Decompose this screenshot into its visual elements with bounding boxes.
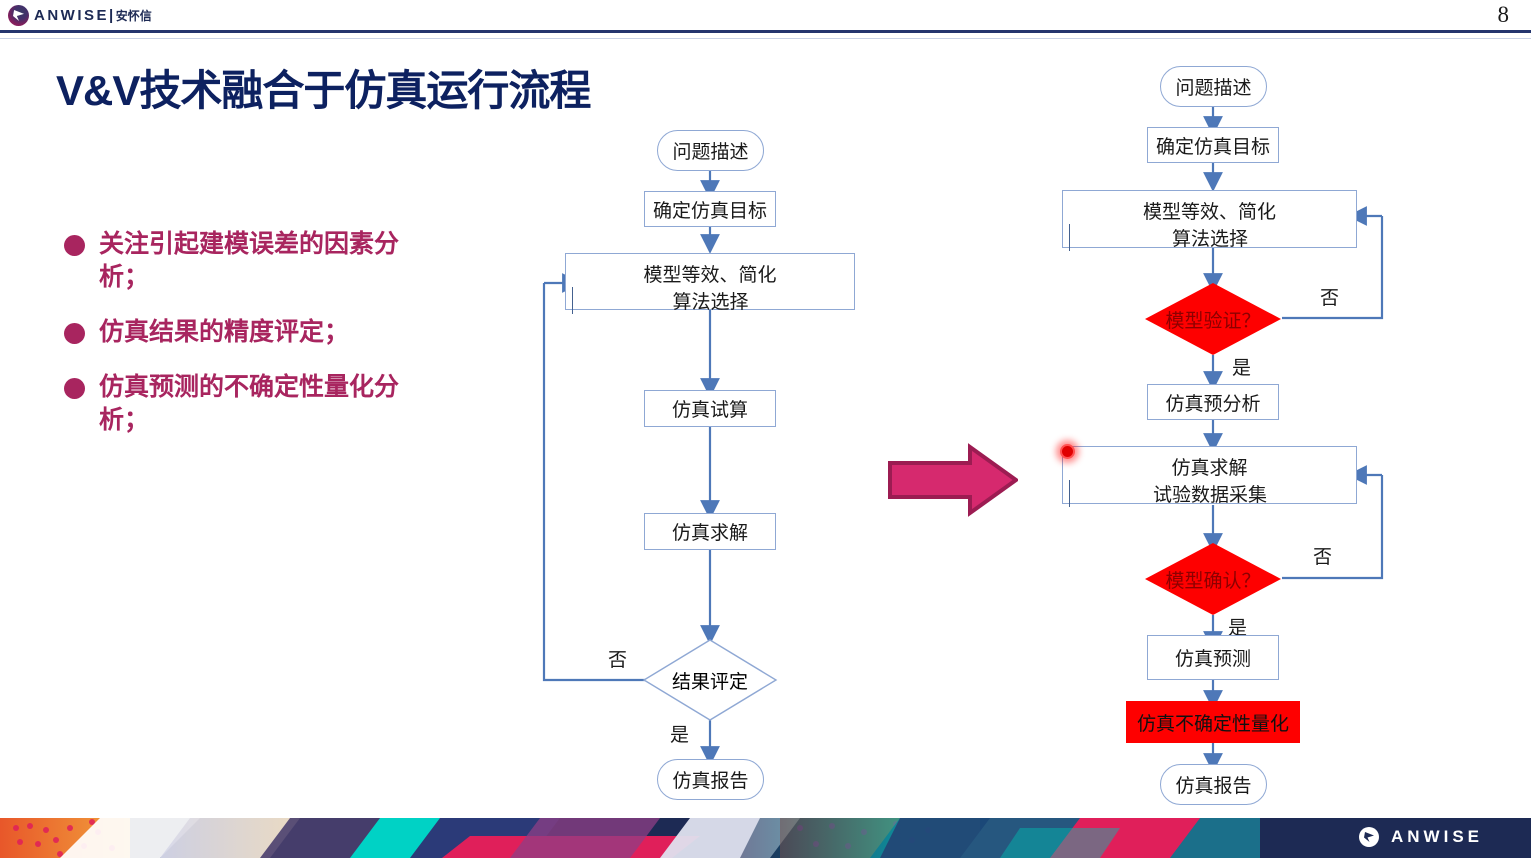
node-model-group[interactable]: 模型等效、简化 算法选择 <box>1062 190 1357 248</box>
brand-name: ANWISE|安怀信 <box>34 7 152 24</box>
bullet-text: 仿真结果的精度评定； <box>99 316 444 349</box>
node-uncertainty-quantification[interactable]: 仿真不确定性量化 <box>1126 701 1300 743</box>
cell-algorithm-select[interactable]: 算法选择 <box>1069 224 1350 251</box>
left-flowchart: 问题描述 确定仿真目标 模型等效、简化 算法选择 仿真试算 仿真求解 结果评定 … <box>520 120 880 810</box>
footer-decoration <box>0 818 1531 858</box>
node-goal[interactable]: 确定仿真目标 <box>644 191 776 227</box>
node-start[interactable]: 问题描述 <box>1160 66 1267 107</box>
node-trial-run[interactable]: 仿真试算 <box>644 390 776 427</box>
node-validate-decision-label: 模型确认？ <box>1145 543 1281 615</box>
brand-name-cn: 安怀信 <box>116 9 152 23</box>
slide-footer: ANWISE <box>0 818 1531 858</box>
anwise-logo-icon <box>8 5 29 26</box>
cell-model-equivalence[interactable]: 模型等效、简化 <box>1069 197 1350 224</box>
list-item: 关注引起建模误差的因素分析； <box>64 228 464 294</box>
node-model-group-inner: 模型等效、简化 算法选择 <box>1069 197 1350 241</box>
node-solve-group-inner: 仿真求解 试验数据采集 <box>1069 453 1350 497</box>
footer-brand-name: ANWISE <box>1391 827 1483 847</box>
transition-arrow-icon <box>888 443 1018 517</box>
slide-header: ANWISE|安怀信 8 <box>0 0 1531 31</box>
bullet-dot-icon <box>64 378 85 399</box>
right-flowchart: 问题描述 确定仿真目标 模型等效、简化 算法选择 模型验证？ 否 是 仿真预分析… <box>1020 55 1420 815</box>
node-validate-decision[interactable]: 模型确认？ <box>1145 543 1281 615</box>
cell-simulation-solve[interactable]: 仿真求解 <box>1069 453 1350 480</box>
edge-label-no-2: 否 <box>1313 542 1332 569</box>
node-start[interactable]: 问题描述 <box>657 130 764 171</box>
node-solve[interactable]: 仿真求解 <box>644 513 776 550</box>
edge-label-yes: 是 <box>670 720 689 747</box>
node-model-group[interactable]: 模型等效、简化 算法选择 <box>565 253 855 310</box>
cell-model-equivalence[interactable]: 模型等效、简化 <box>572 260 848 287</box>
node-preanalysis[interactable]: 仿真预分析 <box>1147 384 1279 420</box>
node-predict[interactable]: 仿真预测 <box>1147 635 1279 680</box>
edge-label-no-1: 否 <box>1320 283 1339 310</box>
node-report[interactable]: 仿真报告 <box>1160 764 1267 805</box>
edge-label-yes-1: 是 <box>1232 353 1251 380</box>
node-report[interactable]: 仿真报告 <box>657 759 764 800</box>
node-verify-decision[interactable]: 模型验证？ <box>1145 283 1281 355</box>
bullet-dot-icon <box>64 323 85 344</box>
node-verify-decision-label: 模型验证？ <box>1145 283 1281 355</box>
node-solve-group[interactable]: 仿真求解 试验数据采集 <box>1062 446 1357 504</box>
footer-brand: ANWISE <box>1359 827 1483 847</box>
logo-swoosh-icon <box>13 10 24 21</box>
brand-separator: | <box>109 7 116 24</box>
header-divider <box>0 30 1531 33</box>
page-title: V&V技术融合于仿真运行流程 <box>56 57 590 118</box>
node-result-decision[interactable]: 结果评定 <box>642 638 778 722</box>
header-divider-secondary <box>0 38 1531 39</box>
bullet-list: 关注引起建模误差的因素分析； 仿真结果的精度评定； 仿真预测的不确定性量化分析； <box>64 228 464 459</box>
cell-test-data-collect[interactable]: 试验数据采集 <box>1069 480 1350 507</box>
page-number: 8 <box>1498 2 1510 28</box>
node-goal[interactable]: 确定仿真目标 <box>1147 127 1279 163</box>
node-model-group-inner: 模型等效、简化 算法选择 <box>572 260 848 303</box>
brand-name-en: ANWISE <box>34 7 109 24</box>
node-result-decision-label: 结果评定 <box>642 638 778 722</box>
bullet-text: 关注引起建模误差的因素分析； <box>99 228 444 294</box>
list-item: 仿真预测的不确定性量化分析； <box>64 371 464 437</box>
bullet-text: 仿真预测的不确定性量化分析； <box>99 371 444 437</box>
cell-algorithm-select[interactable]: 算法选择 <box>572 287 848 314</box>
bullet-dot-icon <box>64 235 85 256</box>
logo-swoosh-icon <box>1364 832 1374 842</box>
list-item: 仿真结果的精度评定； <box>64 316 464 349</box>
red-dot-marker-icon <box>1060 444 1075 459</box>
anwise-footer-logo-icon <box>1359 827 1379 847</box>
edge-label-no: 否 <box>608 645 627 672</box>
